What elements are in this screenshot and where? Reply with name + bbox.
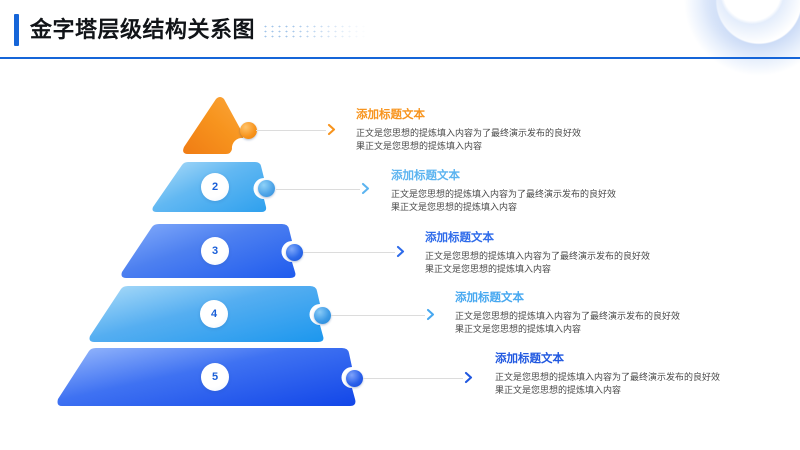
level-2-number: 2 — [201, 173, 229, 201]
item-title-4: 添加标题文本 — [455, 291, 680, 306]
item-title-1: 添加标题文本 — [356, 108, 581, 123]
level-1-connector-knob[interactable] — [240, 122, 257, 139]
item-body-line2-5: 果正文是您思想的提炼填入内容 — [495, 384, 720, 397]
item-body-line2-1: 果正文是您思想的提炼填入内容 — [356, 140, 581, 153]
connector-line-1 — [256, 130, 326, 131]
chevron-right-icon-3 — [394, 245, 407, 258]
item-body-line2-3: 果正文是您思想的提炼填入内容 — [425, 263, 650, 276]
connector-line-4 — [331, 315, 425, 316]
item-body-line2-4: 果正文是您思想的提炼填入内容 — [455, 323, 680, 336]
level-2-connector-knob[interactable] — [258, 180, 275, 197]
chevron-right-icon-1 — [325, 123, 338, 136]
item-body-line2-2: 果正文是您思想的提炼填入内容 — [391, 201, 616, 214]
item-title-5: 添加标题文本 — [495, 352, 720, 367]
pyramid-level-2[interactable]: 2 — [151, 162, 278, 215]
connector-line-3 — [303, 252, 395, 253]
item-body-line1-3: 正文是您思想的提炼填入内容为了最终演示发布的良好效 — [425, 250, 650, 263]
pyramid-level-4[interactable]: 4 — [88, 286, 339, 346]
level-4-number: 4 — [200, 300, 228, 328]
slide-canvas: 金字塔层级结构关系图 — [0, 0, 800, 450]
text-block-1: 添加标题文本 正文是您思想的提炼填入内容为了最终演示发布的良好效 果正文是您思想… — [356, 108, 581, 152]
level-5-connector-knob[interactable] — [346, 370, 363, 387]
item-title-3: 添加标题文本 — [425, 231, 650, 246]
text-block-4: 添加标题文本 正文是您思想的提炼填入内容为了最终演示发布的良好效 果正文是您思想… — [455, 291, 680, 335]
level-5-number: 5 — [201, 363, 229, 391]
text-block-3: 添加标题文本 正文是您思想的提炼填入内容为了最终演示发布的良好效 果正文是您思想… — [425, 231, 650, 275]
item-title-2: 添加标题文本 — [391, 169, 616, 184]
level-3-connector-knob[interactable] — [286, 244, 303, 261]
level-3-number: 3 — [201, 237, 229, 265]
item-body-line1-1: 正文是您思想的提炼填入内容为了最终演示发布的良好效 — [356, 127, 581, 140]
item-body-line1-2: 正文是您思想的提炼填入内容为了最终演示发布的良好效 — [391, 188, 616, 201]
pyramid-diagram: 2 3 — [0, 0, 420, 450]
pyramid-level-3[interactable]: 3 — [120, 224, 309, 281]
item-body-line1-5: 正文是您思想的提炼填入内容为了最终演示发布的良好效 — [495, 371, 720, 384]
text-block-5: 添加标题文本 正文是您思想的提炼填入内容为了最终演示发布的良好效 果正文是您思想… — [495, 352, 720, 396]
level-4-connector-knob[interactable] — [314, 307, 331, 324]
chevron-right-icon-5 — [462, 371, 475, 384]
chevron-right-icon-2 — [359, 182, 372, 195]
item-body-line1-4: 正文是您思想的提炼填入内容为了最终演示发布的良好效 — [455, 310, 680, 323]
connector-line-5 — [363, 378, 463, 379]
pyramid-level-1[interactable] — [180, 96, 260, 158]
pyramid-level-5[interactable]: 5 — [56, 348, 371, 410]
connector-line-2 — [276, 189, 360, 190]
chevron-right-icon-4 — [424, 308, 437, 321]
text-block-2: 添加标题文本 正文是您思想的提炼填入内容为了最终演示发布的良好效 果正文是您思想… — [391, 169, 616, 213]
